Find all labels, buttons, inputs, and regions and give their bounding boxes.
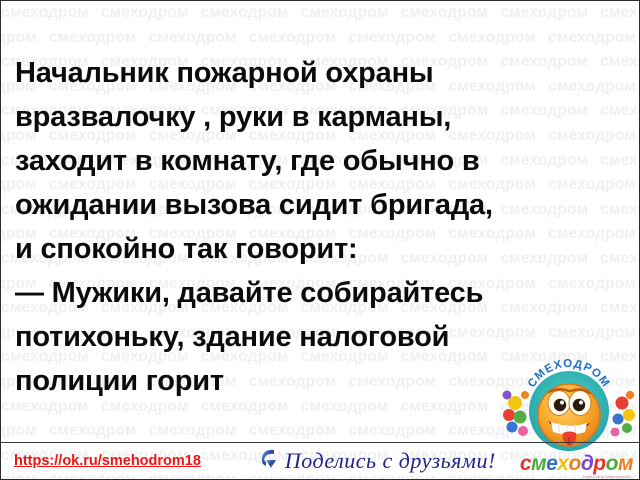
- brand-letter: х: [557, 452, 568, 476]
- joke-line: — Мужики, давайте собирайтесь: [15, 271, 633, 315]
- joke-line: заходит в комнату, где обычно в: [15, 139, 633, 183]
- joke-line: Начальник пожарной охраны: [15, 51, 633, 95]
- share-arrow-icon: [257, 446, 283, 477]
- joke-line: ожидании вызова сидит бригада,: [15, 183, 633, 227]
- brand-letter: д: [581, 452, 593, 476]
- brand-wordmark-subtitle: https://ok.ru/smehodrom18: [583, 475, 631, 479]
- brand-wordmark: смеходром: [520, 452, 633, 476]
- joke-card: смеходромсмеходромсмеходромсмеходромсмех…: [0, 0, 640, 480]
- brand-letter: о: [606, 452, 618, 476]
- joke-line: вразвалочку , руки в карманы,: [15, 95, 633, 139]
- joke-line: потихоньку, здание налоговой: [15, 315, 633, 359]
- brand-letter: м: [531, 452, 546, 476]
- share-label: Поделись с друзьями!: [285, 448, 496, 474]
- brand-letter: р: [593, 452, 605, 476]
- brand-letter: м: [618, 452, 633, 476]
- joke-text-block: Начальник пожарной охранывразвалочку , р…: [1, 1, 640, 403]
- brand-letter: о: [568, 452, 580, 476]
- joke-line: и спокойно так говорит:: [15, 227, 633, 271]
- share-with-friends[interactable]: Поделись с друзьями!: [257, 446, 496, 477]
- brand-letter: е: [546, 452, 557, 476]
- site-url-link[interactable]: https://ok.ru/smehodrom18: [14, 453, 201, 469]
- brand-letter: с: [520, 452, 531, 476]
